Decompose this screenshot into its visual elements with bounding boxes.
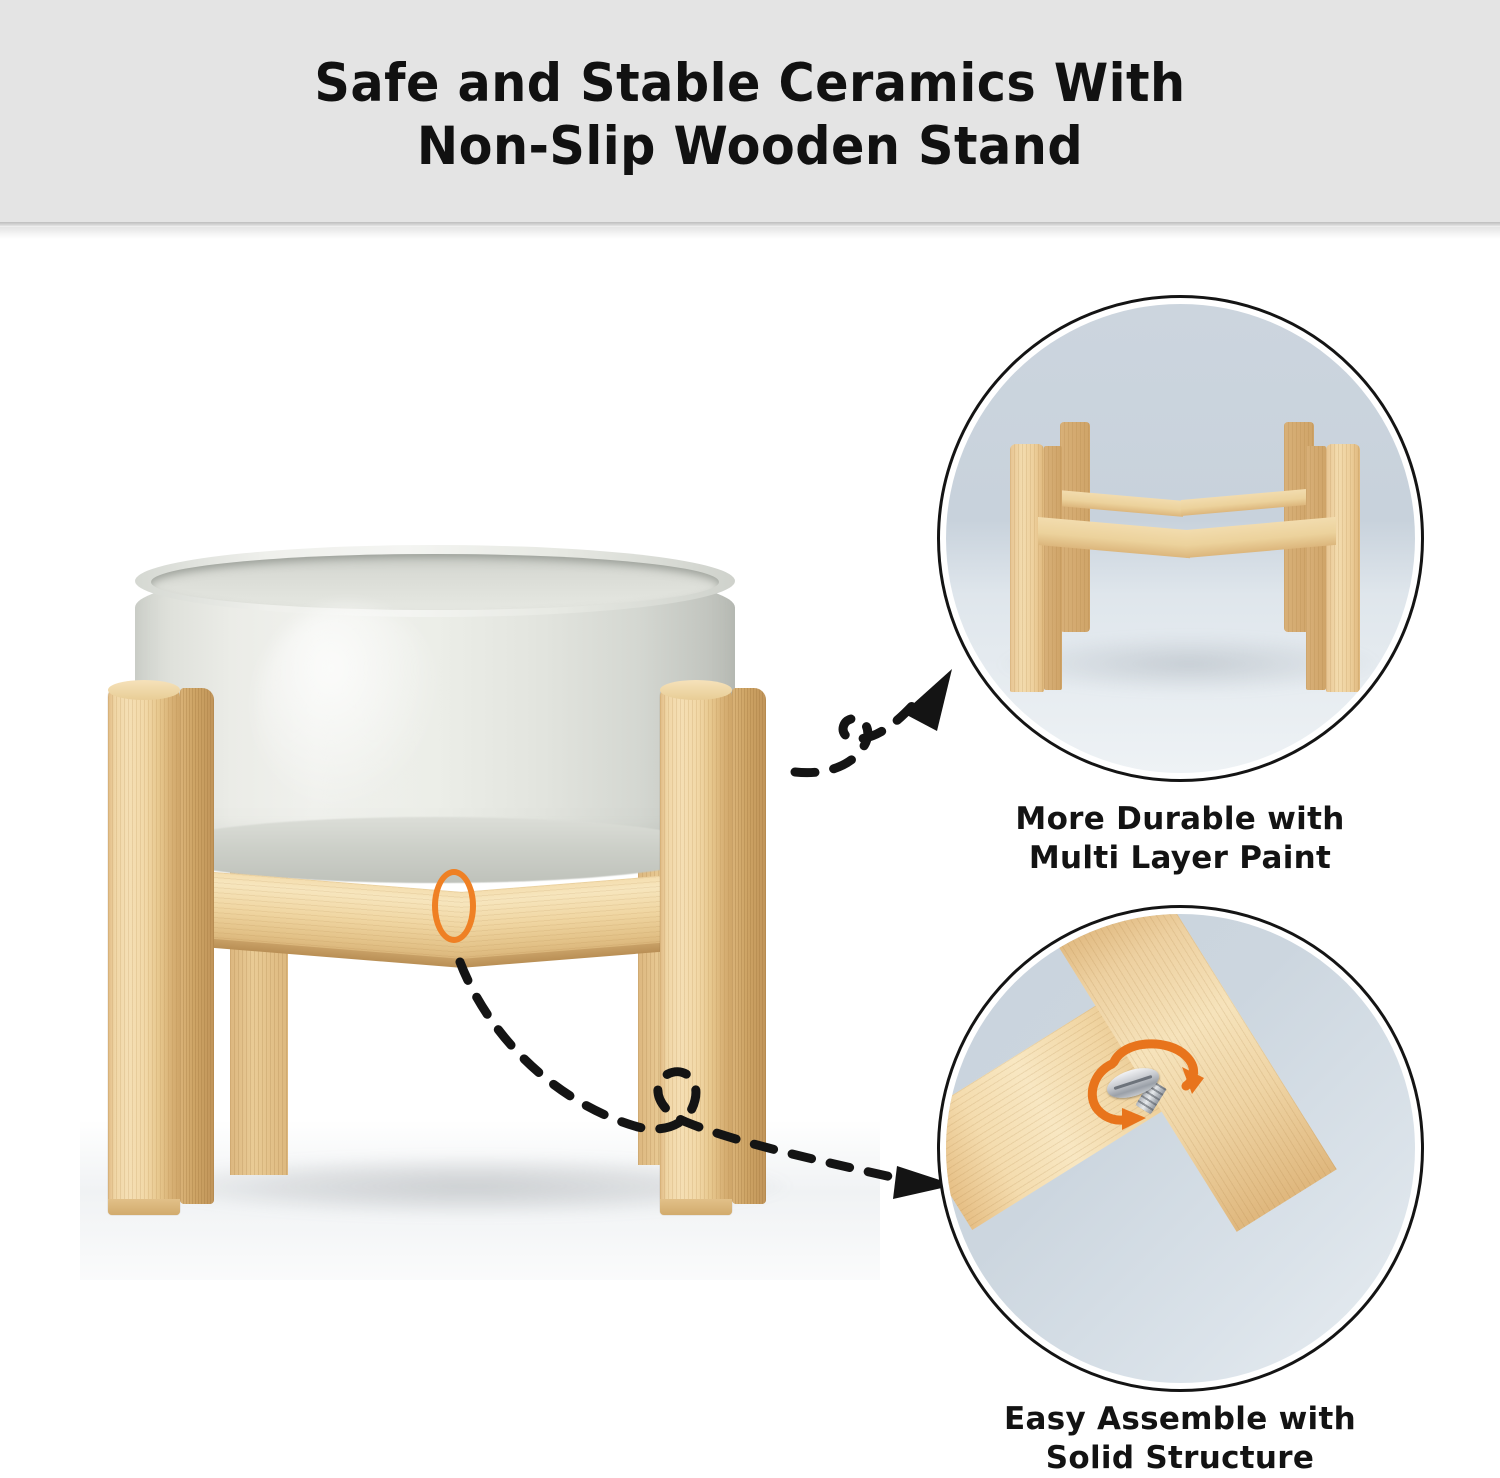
stand-front-leg-right-side xyxy=(732,688,766,1204)
stand-front-leg-right xyxy=(660,685,732,1215)
rotation-arrow-icon xyxy=(946,914,1415,1383)
stand-front-leg-left xyxy=(108,685,180,1215)
ceramic-bowl xyxy=(135,545,735,880)
stand-front-leg-right-foot xyxy=(660,1199,732,1215)
inset-bamboo-stand-photo xyxy=(946,304,1415,773)
inset-screw-joint xyxy=(937,905,1424,1392)
bowl-interior xyxy=(151,554,719,610)
center-joint-highlight xyxy=(432,869,476,943)
inset-bamboo-stand xyxy=(937,295,1424,782)
inset-stand-front-leg-left xyxy=(1010,444,1044,692)
stand-front-leg-left-side xyxy=(180,688,214,1204)
page-title: Safe and Stable Ceramics With Non-Slip W… xyxy=(53,52,1448,178)
stand-front-leg-left-top xyxy=(108,680,180,700)
header-shadow xyxy=(0,227,1500,239)
caption-durable-paint: More Durable with Multi Layer Paint xyxy=(920,800,1440,878)
stand-front-leg-left-foot xyxy=(108,1199,180,1215)
inset-stand-front-leg-right xyxy=(1326,444,1360,692)
stand-front-leg-right-top xyxy=(660,680,732,700)
inset-screw-joint-photo xyxy=(946,914,1415,1383)
inset-stand-front-leg-left-side xyxy=(1044,446,1062,690)
inset-stand-front-leg-right-side xyxy=(1306,446,1326,690)
bowl-highlight xyxy=(255,605,445,815)
marketing-image: Safe and Stable Ceramics With Non-Slip W… xyxy=(0,0,1500,1464)
caption-easy-assemble: Easy Assemble with Solid Structure xyxy=(920,1400,1440,1478)
